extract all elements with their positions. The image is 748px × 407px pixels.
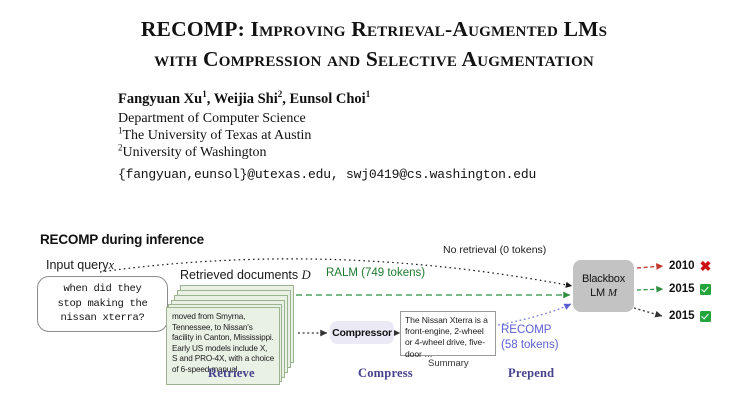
- author-emails: {fangyuan,eunsol}@utexas.edu, swj0419@cs…: [118, 165, 638, 184]
- author-1-name: Fangyuan Xu: [118, 91, 202, 107]
- input-query-box[interactable]: when did they stop making the nissan xte…: [37, 276, 168, 332]
- author-names: Fangyuan Xu1, Weijia Shi2, Eunsol Choi1: [118, 90, 638, 109]
- input-query-variable: x: [109, 258, 115, 272]
- author-3-name: Eunsol Choi: [290, 91, 366, 107]
- blackbox-lm-line2: LM M: [590, 286, 617, 300]
- paper-title: RECOMP: Improving Retrieval-Augmented LM…: [0, 14, 748, 74]
- compressor-label: Compressor: [332, 327, 392, 339]
- compressor-node[interactable]: Compressor: [330, 321, 394, 344]
- summary-box[interactable]: The Nissan Xterra is a front-engine, 2-w…: [400, 311, 496, 356]
- output-year-2015-recomp: 2015: [669, 310, 695, 322]
- author-sep-1: ,: [207, 91, 214, 107]
- input-query-text: when did they stop making the nissan xte…: [57, 282, 147, 326]
- edge-label-no-retrieval: No retrieval (0 tokens): [443, 244, 546, 256]
- output-ralm: 2015: [669, 283, 711, 295]
- blackbox-lm-variable: M: [608, 287, 617, 299]
- input-query-label: Input queryx: [46, 258, 114, 273]
- recomp-inference-figure: RECOMP during inference Input queryx whe…: [0, 228, 748, 407]
- retrieved-documents-label-text: Retrieved documents: [180, 268, 298, 282]
- affiliation-1-text: The University of Texas at Austin: [123, 128, 312, 143]
- edge-label-recomp-line1: RECOMP: [501, 323, 559, 338]
- output-no-retrieval: 2010 ✖: [669, 260, 711, 272]
- author-block: Fangyuan Xu1, Weijia Shi2, Eunsol Choi1 …: [118, 90, 638, 184]
- edge-label-ralm: RALM (749 tokens): [326, 267, 425, 279]
- stage-label-retrieve: Retrieve: [208, 366, 255, 381]
- affiliation-2: 2University of Washington: [118, 144, 638, 161]
- affiliation-2-text: University of Washington: [123, 145, 267, 160]
- summary-text: The Nissan Xterra is a front-engine, 2-w…: [405, 315, 491, 360]
- author-sep-2: ,: [282, 91, 289, 107]
- title-line-2: with Compression and Selective Augmentat…: [0, 44, 748, 74]
- retrieved-documents-variable: D: [302, 268, 311, 282]
- output-year-2015-ralm: 2015: [669, 283, 695, 295]
- slide-page: RECOMP: Improving Retrieval-Augmented LM…: [0, 0, 748, 407]
- edge-label-recomp-line2: (58 tokens): [501, 338, 559, 353]
- blackbox-lm-node[interactable]: Blackbox LM M: [573, 260, 634, 312]
- department-line: Department of Computer Science: [118, 110, 638, 127]
- edge-output-2015-recomp: [634, 308, 662, 316]
- edge-output-2010: [637, 266, 663, 268]
- blackbox-lm-line2-text: LM: [590, 287, 605, 299]
- title-line-1: RECOMP: Improving Retrieval-Augmented LM…: [0, 14, 748, 44]
- edge-output-2015-ralm: [637, 289, 663, 290]
- author-3-affil-marker: 1: [366, 89, 371, 99]
- output-year-2010: 2010: [669, 260, 695, 272]
- retrieved-documents-label: Retrieved documents D: [180, 268, 311, 283]
- edge-label-recomp: RECOMP (58 tokens): [501, 323, 559, 353]
- affiliation-1: 1The University of Texas at Austin: [118, 127, 638, 144]
- blackbox-lm-line1: Blackbox: [582, 272, 625, 286]
- stage-label-compress: Compress: [358, 366, 413, 381]
- cross-icon: ✖: [700, 261, 712, 271]
- stage-label-prepend: Prepend: [508, 366, 554, 381]
- summary-caption: Summary: [428, 358, 469, 369]
- check-icon: [700, 311, 711, 322]
- output-recomp: 2015: [669, 310, 711, 322]
- check-icon: [700, 284, 711, 295]
- author-2-name: Weijia Shi: [214, 91, 278, 107]
- input-query-label-text: Input query: [46, 258, 109, 272]
- edge-recomp-prepend: [498, 304, 571, 325]
- figure-heading: RECOMP during inference: [40, 232, 204, 247]
